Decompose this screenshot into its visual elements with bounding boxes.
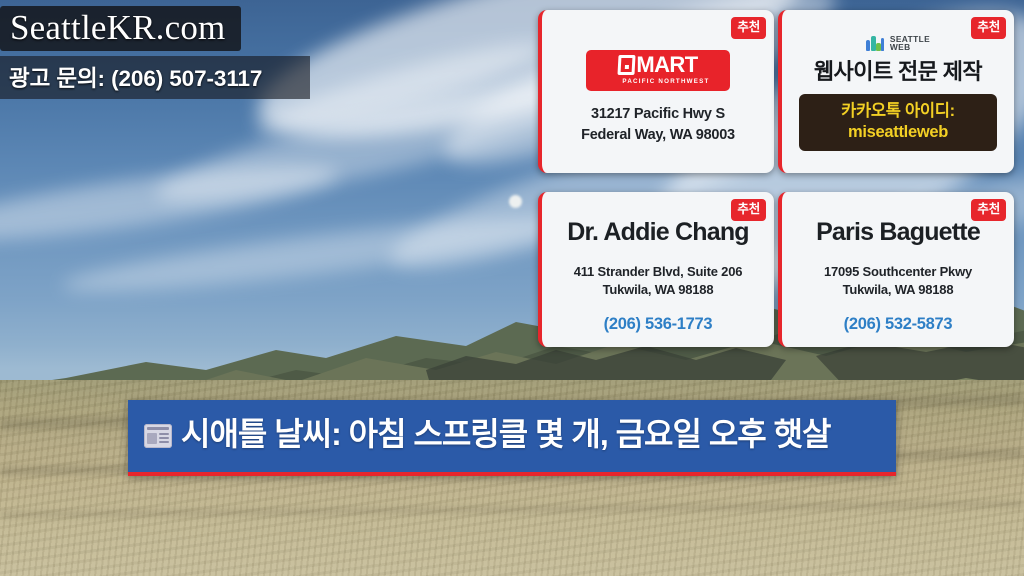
address-line-2: Tukwila, WA 98188 [574,281,743,299]
site-branding: SeattleKR.com 광고 문의: (206) 507-3117 [0,6,310,99]
ad-contact-phone[interactable]: 광고 문의: (206) 507-3117 [0,56,310,99]
hmart-address: 31217 Pacific Hwy S Federal Way, WA 9800… [581,104,735,145]
ad-card-paris-baguette[interactable]: 추천 Paris Baguette 17095 Southcenter Pkwy… [778,192,1014,347]
address-line-2: Federal Way, WA 98003 [581,125,735,146]
site-logo[interactable]: SeattleKR.com [0,6,241,51]
ad-card-addie-chang[interactable]: 추천 Dr. Addie Chang 411 Strander Blvd, Su… [538,192,774,347]
hmart-logo-wordmark: MART [636,54,697,76]
business-address: 411 Strander Blvd, Suite 206 Tukwila, WA… [574,263,743,300]
headline-text-wrap: 시애틀 날씨: 아침 스프링클 몇 개, 금요일 오후 햇살 [144,414,880,456]
kakao-label: 카카오톡 아이디: [805,101,991,122]
business-name: Dr. Addie Chang [567,219,749,247]
seattleweb-headline: 웹사이트 전문 제작 [814,59,982,85]
address-line-1: 31217 Pacific Hwy S [581,104,735,125]
address-line-1: 17095 Southcenter Pkwy [824,263,972,281]
kakao-id: miseattleweb [805,122,991,143]
kakao-contact-box[interactable]: 카카오톡 아이디: miseattleweb [799,94,997,151]
recommended-badge: 추천 [971,199,1006,221]
hmart-logo: MART PACIFIC NORTHWEST [586,50,730,91]
headline-title: 시애틀 날씨: 아침 스프링클 몇 개, 금요일 오후 햇살 [181,416,830,452]
recommended-badge: 추천 [731,17,766,39]
seattleweb-wordmark-line2: WEB [890,42,911,52]
business-address: 17095 Southcenter Pkwy Tukwila, WA 98188 [824,263,972,300]
hmart-h-glyph-icon [618,55,636,75]
recommended-badge: 추천 [971,17,1006,39]
address-line-2: Tukwila, WA 98188 [824,281,972,299]
headline-banner[interactable]: 시애틀 날씨: 아침 스프링클 몇 개, 금요일 오후 햇살 [128,400,896,476]
business-phone[interactable]: (206) 536-1773 [604,315,713,334]
newspaper-icon [144,424,172,448]
seattleweb-logo: SEATTLE WEB [866,35,930,52]
recommended-badge: 추천 [731,199,766,221]
screenshot-root: SeattleKR.com 광고 문의: (206) 507-3117 추천 M… [0,0,1024,576]
ad-card-seattleweb[interactable]: 추천 SEATTLE WEB 웹사이트 전문 제작 카카오톡 아이디: mise… [778,10,1014,173]
hmart-logo-tagline: PACIFIC NORTHWEST [622,78,709,85]
sun-glint [509,195,522,208]
valley-band [0,501,1024,519]
address-line-1: 411 Strander Blvd, Suite 206 [574,263,743,281]
seattleweb-mark-icon [866,36,885,51]
business-phone[interactable]: (206) 532-5873 [844,315,953,334]
ad-card-hmart[interactable]: 추천 MART PACIFIC NORTHWEST 31217 Pacific … [538,10,774,173]
seattleweb-wordmark: SEATTLE WEB [890,35,930,52]
business-name: Paris Baguette [816,219,980,247]
